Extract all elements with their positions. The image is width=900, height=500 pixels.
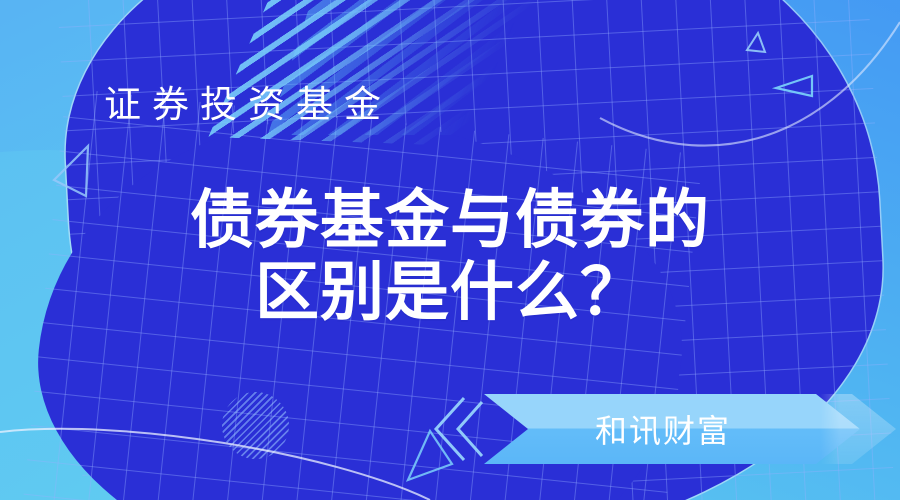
chevron-left-icon — [430, 396, 486, 462]
title-line-1: 债券基金与债券的 — [190, 184, 710, 258]
triangle-outline-icon-top-right — [776, 76, 812, 96]
poster-canvas: 证券投资基金 债券基金与债券的 区别是什么？ 和讯财富 — [0, 0, 900, 500]
eyebrow-text: 证券投资基金 — [104, 74, 392, 128]
banner-label: 和讯财富 — [484, 394, 860, 464]
chevron-stroke-inner — [458, 402, 482, 456]
curve-line-icon-top — [600, 22, 900, 146]
brand-banner: 和讯财富 — [430, 388, 900, 478]
title-line-2: 区别是什么？ — [0, 258, 900, 330]
triangle-outline-icon-top-small — [747, 33, 765, 52]
page-title: 债券基金与债券的 区别是什么？ — [0, 186, 900, 329]
curve-line-icon-bottom — [0, 429, 430, 500]
